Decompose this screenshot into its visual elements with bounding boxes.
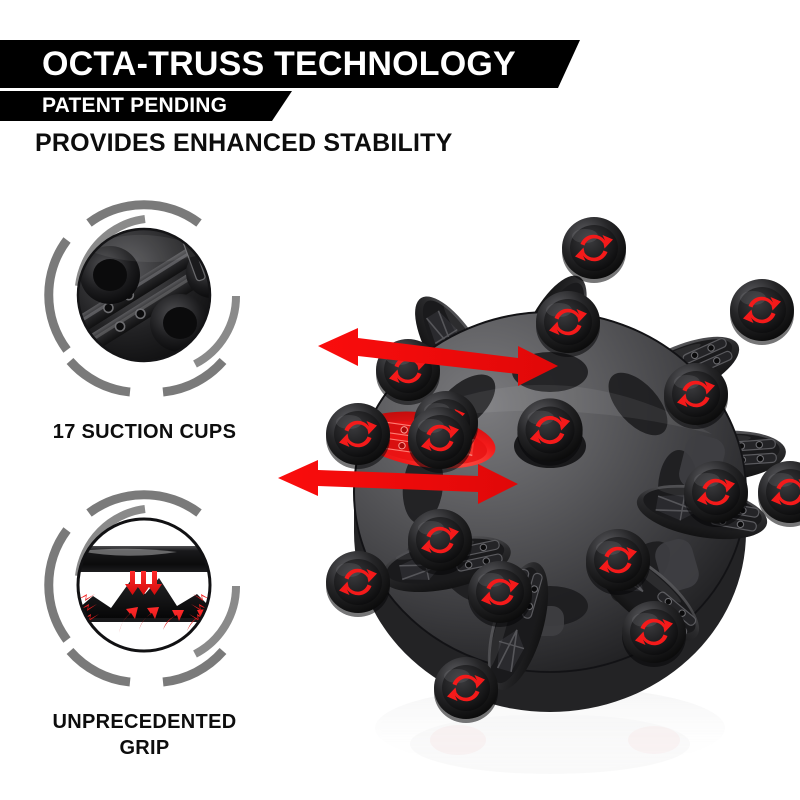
patent-banner: PATENT PENDING xyxy=(0,91,292,121)
downward-pressure-arrows xyxy=(125,571,162,595)
suction-cup[interactable] xyxy=(408,509,472,575)
grip-caption-line2: GRIP xyxy=(12,735,277,761)
octa-truss-mount-illustration xyxy=(250,140,800,800)
grip-caption: UNPRECEDENTED GRIP xyxy=(12,709,277,761)
suction-cup[interactable] xyxy=(562,217,626,283)
patent-text: PATENT PENDING xyxy=(42,94,227,118)
suction-cup-closeup-icon xyxy=(27,178,262,413)
suction-cup[interactable] xyxy=(326,403,390,469)
marketing-image-canvas: OCTA-TRUSS TECHNOLOGY PATENT PENDING PRO… xyxy=(0,0,800,800)
suction-cup[interactable] xyxy=(408,407,472,473)
suction-cup[interactable] xyxy=(684,461,748,527)
suction-cup[interactable] xyxy=(586,529,650,595)
suction-cup[interactable] xyxy=(468,561,532,627)
suction-cup[interactable] xyxy=(664,363,728,429)
suction-cup[interactable] xyxy=(730,279,794,345)
feature-callout-suction-cups: 17 SUCTION CUPS xyxy=(12,178,277,445)
headline-banner: OCTA-TRUSS TECHNOLOGY xyxy=(0,40,580,88)
suction-cup[interactable] xyxy=(326,551,390,617)
suction-cup[interactable] xyxy=(536,291,600,357)
grip-ring-graphic xyxy=(27,468,262,703)
suction-cup[interactable] xyxy=(434,657,498,723)
grip-caption-line1: UNPRECEDENTED xyxy=(12,709,277,735)
grip-pressure-diagram-icon xyxy=(27,468,262,703)
feature-callout-grip: UNPRECEDENTED GRIP xyxy=(12,468,277,761)
headline-text: OCTA-TRUSS TECHNOLOGY xyxy=(42,45,516,84)
suction-cup[interactable] xyxy=(622,601,686,667)
product-photo xyxy=(250,140,800,800)
suction-cups-ring-graphic xyxy=(27,178,262,413)
suction-cups-caption: 17 SUCTION CUPS xyxy=(12,419,277,445)
